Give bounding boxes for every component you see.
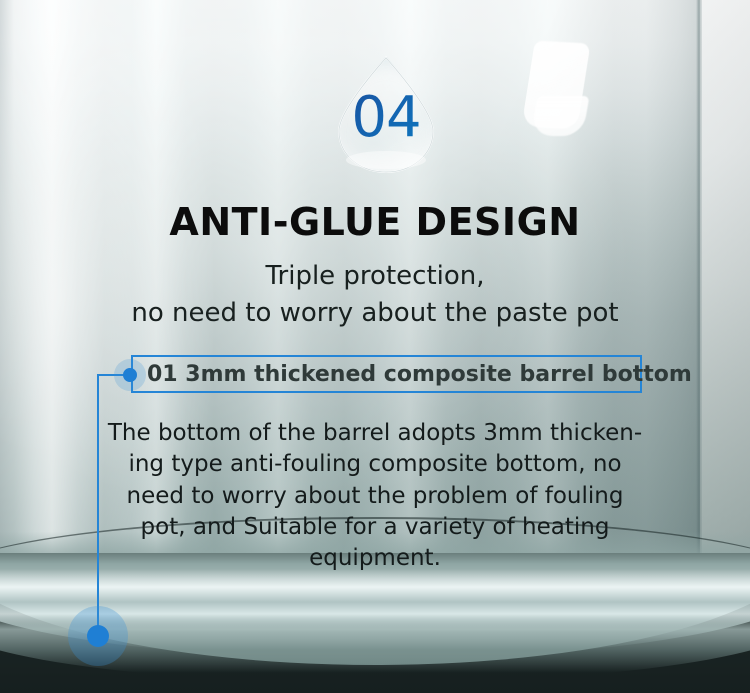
step-badge: 04	[330, 56, 442, 174]
description-line-4: pot, and Suitable for a variety of heati…	[95, 512, 655, 543]
step-number: 04	[330, 90, 442, 146]
description-line-3: need to worry about the problem of fouli…	[95, 481, 655, 512]
page-subtitle: Triple protection, no need to worry abou…	[0, 258, 750, 332]
callout-node-dot[interactable]	[123, 368, 137, 382]
description-line-2: ing type anti-fouling composite bottom, …	[95, 449, 655, 480]
subtitle-line-2: no need to worry about the paste pot	[0, 295, 750, 332]
description-line-1: The bottom of the barrel adopts 3mm thic…	[95, 418, 655, 449]
description-line-5: equipment.	[95, 543, 655, 574]
page-title: ANTI-GLUE DESIGN	[0, 200, 750, 244]
hotspot-marker-dot[interactable]	[87, 625, 109, 647]
subtitle-line-1: Triple protection,	[0, 258, 750, 295]
product-feature-banner: 04 ANTI-GLUE DESIGN Triple protection, n…	[0, 0, 750, 693]
feature-callout-box: 01 3mm thickened composite barrel bottom	[131, 355, 642, 393]
feature-description: The bottom of the barrel adopts 3mm thic…	[95, 418, 655, 574]
feature-callout-label: 01 3mm thickened composite barrel bottom	[133, 362, 692, 387]
